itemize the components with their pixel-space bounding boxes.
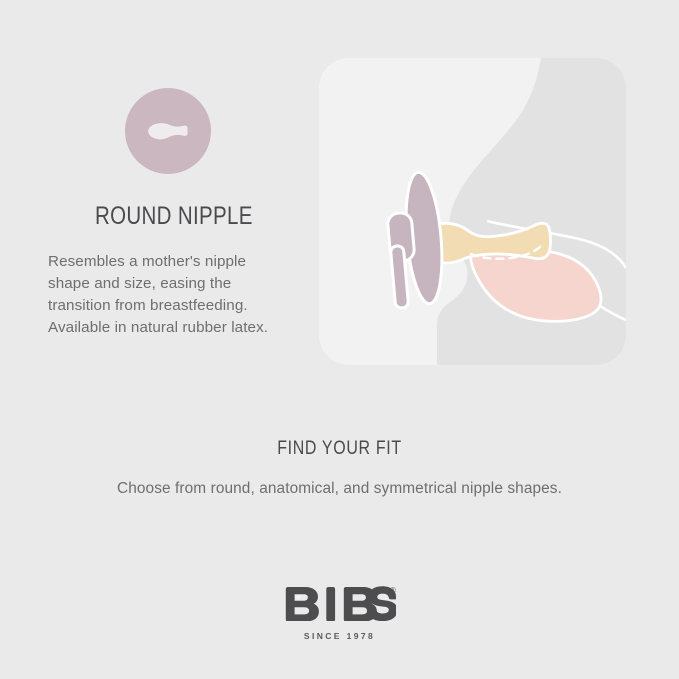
feature-column: ROUND NIPPLE Resembles a mother's nipple…: [48, 88, 298, 339]
feature-description: Resembles a mother's nipple shape and si…: [48, 251, 288, 339]
find-your-fit-section: FIND YOUR FIT Choose from round, anatomi…: [0, 438, 679, 498]
feature-top-section: ROUND NIPPLE Resembles a mother's nipple…: [0, 0, 679, 400]
page-title: ROUND NIPPLE: [95, 202, 261, 231]
illustration-card: [319, 58, 626, 365]
round-nipple-shape-icon: [125, 88, 211, 174]
find-your-fit-subtitle: Choose from round, anatomical, and symme…: [0, 480, 679, 498]
bibs-logo: ®: [284, 585, 396, 626]
brand-logo-block: ® SINCE 1978: [0, 585, 679, 641]
infographic-page: ROUND NIPPLE Resembles a mother's nipple…: [0, 0, 679, 679]
brand-tagline: SINCE 1978: [0, 631, 679, 641]
heart-icon: [295, 595, 301, 600]
trademark-symbol: ®: [390, 586, 396, 595]
find-your-fit-title: FIND YOUR FIT: [54, 438, 624, 460]
